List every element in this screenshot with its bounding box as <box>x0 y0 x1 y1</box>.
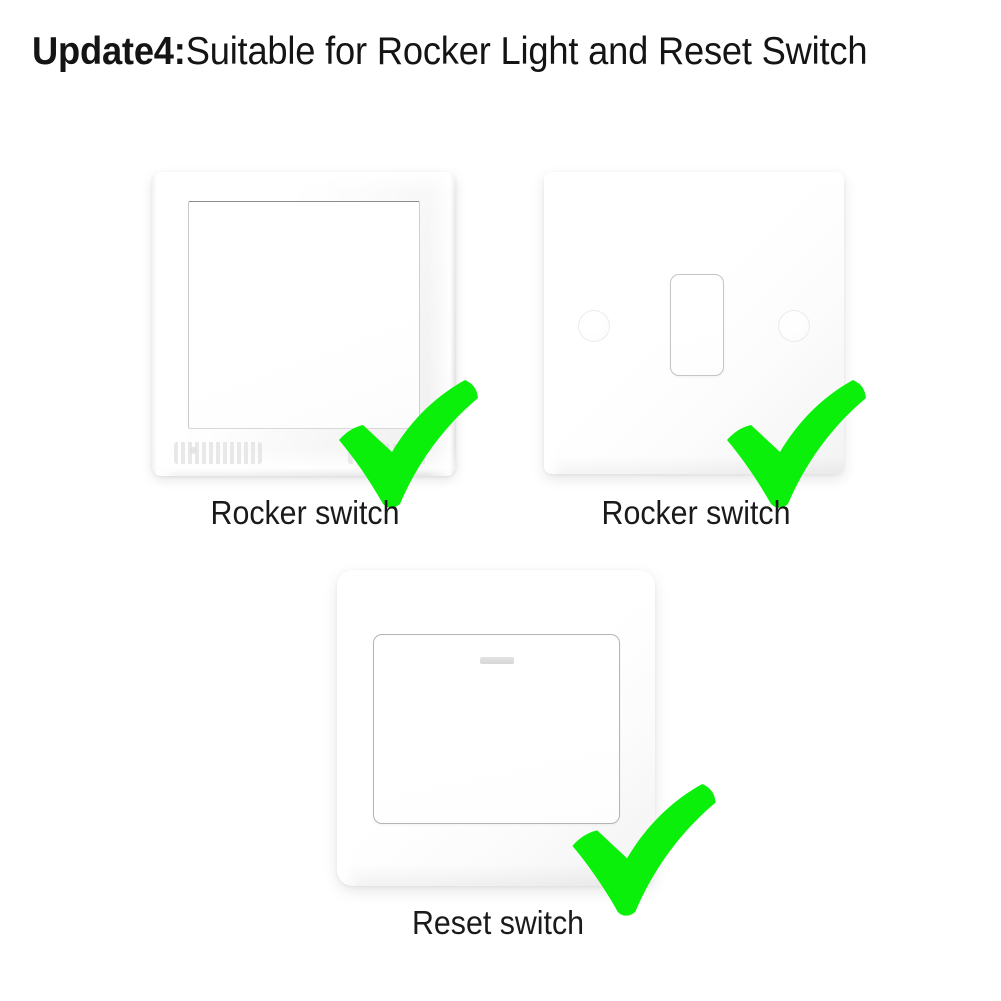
switch-plate[interactable] <box>337 570 655 886</box>
figure-reset-switch: Reset switch <box>333 566 663 896</box>
switch-plate[interactable] <box>152 172 456 476</box>
screw-dimple-right-icon <box>778 310 810 342</box>
page-title-rest: Suitable for Rocker Light and Reset Swit… <box>186 30 868 73</box>
page-title: Update4:Suitable for Rocker Light and Re… <box>32 22 888 81</box>
indicator-strip-icon <box>480 657 514 664</box>
figure-rocker-switch-framed: Rocker switch <box>148 168 462 484</box>
figure-caption: Rocker switch <box>161 494 450 532</box>
figure-caption: Rocker switch <box>552 494 839 532</box>
page-title-lead: Update4: <box>32 30 186 73</box>
rocker-toggle[interactable] <box>670 274 724 376</box>
rocker-panel[interactable] <box>373 634 620 824</box>
brand-mark-icon <box>174 442 262 464</box>
switch-plate[interactable] <box>544 172 844 474</box>
rocker-panel[interactable] <box>188 201 420 429</box>
figure-rocker-switch-toggle: Rocker switch <box>540 168 852 484</box>
brand-text-icon <box>348 444 426 464</box>
figure-caption: Reset switch <box>346 904 650 942</box>
screw-dimple-left-icon <box>578 310 610 342</box>
